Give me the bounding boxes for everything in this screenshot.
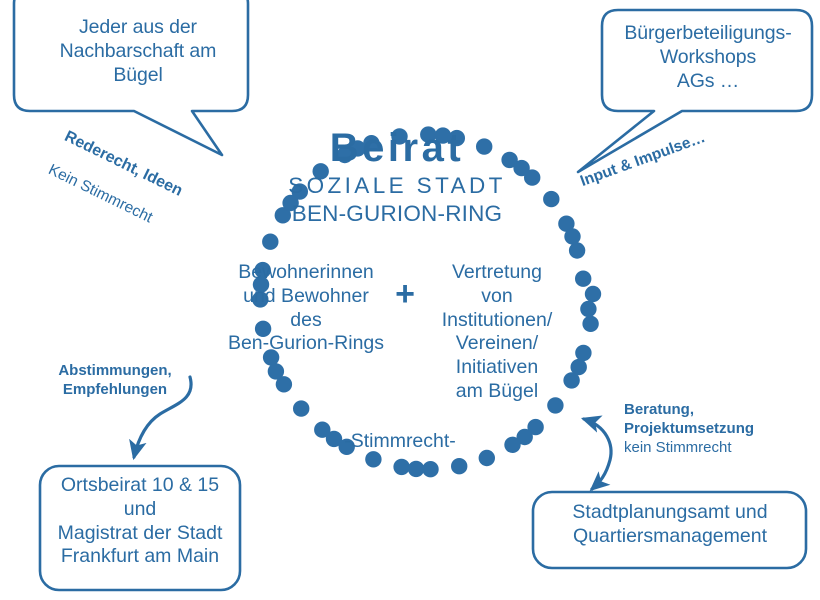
page-title: Beirat xyxy=(252,128,542,168)
label-beratung-line3: kein Stimmrecht xyxy=(624,439,794,458)
label-beratung-line1: Beratung, xyxy=(624,401,794,420)
arrow-beratung xyxy=(584,419,611,489)
voting-rights-note: -Stimmrecht- xyxy=(300,430,500,454)
page-subtitle-secondary: BEN-GURION-RING xyxy=(252,203,542,226)
label-beratung-line2: Projektumsetzung xyxy=(624,420,794,439)
label-beratung-projektumsetzung: Beratung, Projektumsetzung kein Stimmrec… xyxy=(624,401,794,457)
bubble-top-left-label: Jeder aus der Nachbarschaft am Bügel xyxy=(38,16,238,87)
plus-icon: + xyxy=(390,277,420,311)
label-abstimmungen-empfehlungen: Abstimmungen, Empfehlungen xyxy=(40,362,190,400)
box-bottom-left-label: Ortsbeirat 10 & 15 und Magistrat der Sta… xyxy=(42,474,238,569)
bubble-top-right-label: Bürgerbeteiligungs- Workshops AGs … xyxy=(608,22,808,93)
diagram-canvas: Jeder aus der Nachbarschaft am Bügel Bür… xyxy=(0,0,820,600)
members-institutions-column: Vertretung von Institutionen/ Vereinen/ … xyxy=(418,261,576,404)
page-subtitle-primary: SOZIALE STADT xyxy=(252,175,542,198)
members-residents-column: Bewohnerinnen und Bewohner des Ben-Gurio… xyxy=(218,261,394,356)
box-bottom-right-label: Stadtplanungsamt und Quartiersmanagement xyxy=(536,501,804,549)
